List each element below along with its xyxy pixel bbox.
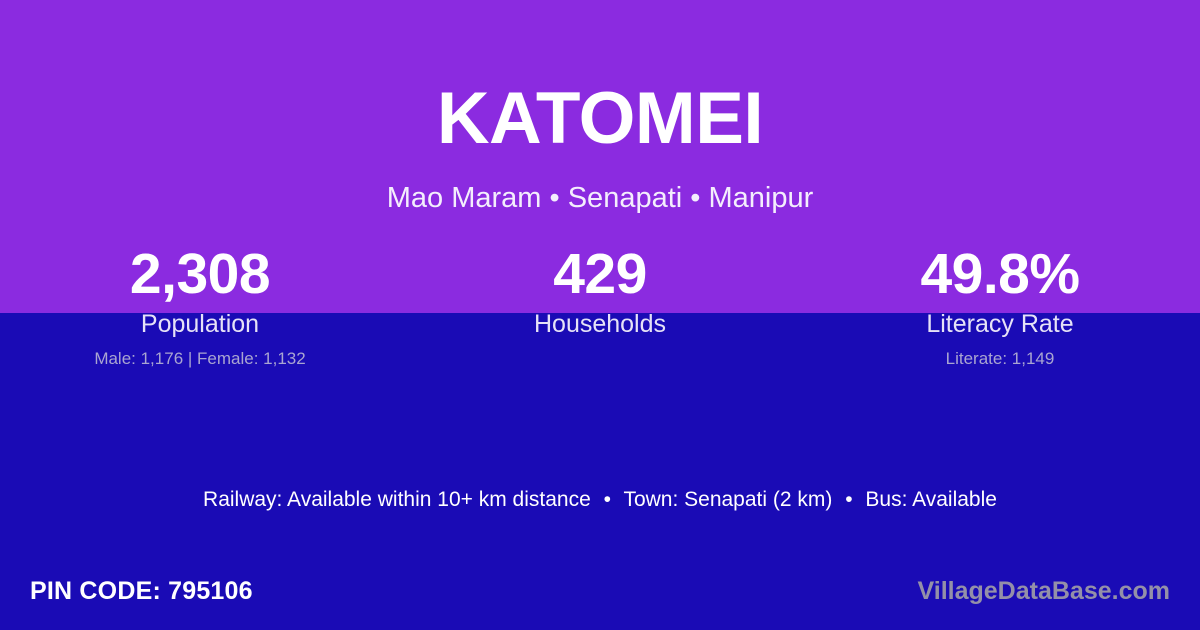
households-value: 429 bbox=[400, 244, 800, 305]
village-location-subtitle: Mao Maram • Senapati • Manipur bbox=[0, 183, 1200, 215]
amenity-town: Town: Senapati (2 km) bbox=[623, 488, 832, 511]
population-gender-breakdown: Male: 1,176 | Female: 1,132 bbox=[0, 348, 400, 370]
population-label: Population bbox=[0, 309, 400, 339]
village-info-card: KATOMEI Mao Maram • Senapati • Manipur 2… bbox=[0, 0, 1200, 630]
site-brand-watermark: VillageDataBase.com bbox=[918, 574, 1170, 608]
page-title: KATOMEI bbox=[0, 82, 1200, 155]
households-sub bbox=[400, 348, 800, 370]
stat-population: 2,308 Population Male: 1,176 | Female: 1… bbox=[0, 244, 400, 370]
literacy-rate-label: Literacy Rate bbox=[800, 309, 1200, 339]
amenities-line: Railway: Available within 10+ km distanc… bbox=[0, 486, 1200, 514]
households-label: Households bbox=[400, 309, 800, 339]
stat-literacy-rate: 49.8% Literacy Rate Literate: 1,149 bbox=[800, 244, 1200, 370]
card-footer: PIN CODE: 795106 VillageDataBase.com bbox=[0, 574, 1200, 614]
amenity-separator-1: • bbox=[597, 486, 618, 514]
literacy-rate-value: 49.8% bbox=[800, 244, 1200, 305]
amenity-separator-2: • bbox=[838, 486, 859, 514]
stats-row: 2,308 Population Male: 1,176 | Female: 1… bbox=[0, 244, 1200, 370]
amenity-railway: Railway: Available within 10+ km distanc… bbox=[203, 488, 591, 511]
stat-households: 429 Households bbox=[400, 244, 800, 370]
population-value: 2,308 bbox=[0, 244, 400, 305]
amenity-bus: Bus: Available bbox=[865, 488, 997, 511]
pin-code-label: PIN CODE: 795106 bbox=[30, 574, 253, 608]
literate-count: Literate: 1,149 bbox=[800, 348, 1200, 370]
